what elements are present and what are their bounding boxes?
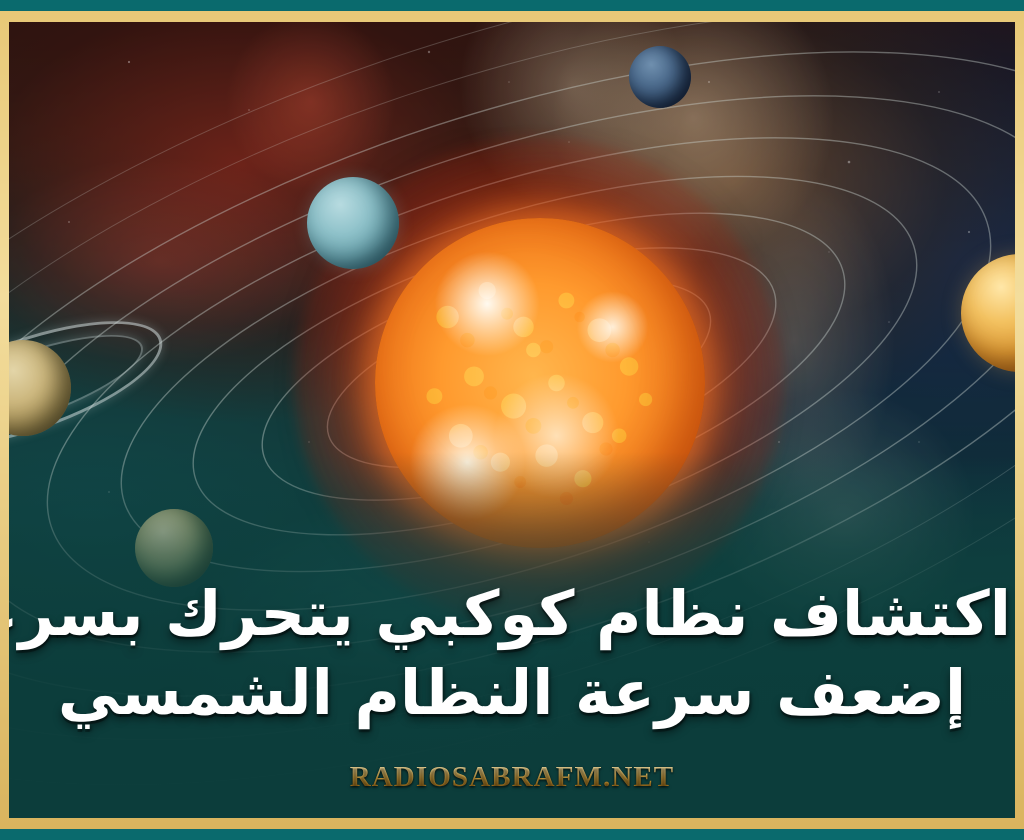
uranus-planet [307, 177, 399, 269]
headline-line-2: إضعف سرعة النظام الشمسي [13, 660, 1011, 726]
news-card: اكتشاف نظام كوكبي يتحرك بسرعة إضعف سرعة … [0, 0, 1024, 840]
site-name-text: RADIOSABRAFM.NET [350, 761, 675, 793]
headline-line-1: اكتشاف نظام كوكبي يتحرك بسرعة [13, 581, 1011, 647]
headline: اكتشاف نظام كوكبي يتحرك بسرعة إضعف سرعة … [9, 581, 1015, 726]
neptune-planet [629, 46, 691, 108]
site-name: RADIOSABRAFM.NET [9, 761, 1015, 794]
space-illustration: اكتشاف نظام كوكبي يتحرك بسرعة إضعف سرعة … [9, 22, 1015, 818]
